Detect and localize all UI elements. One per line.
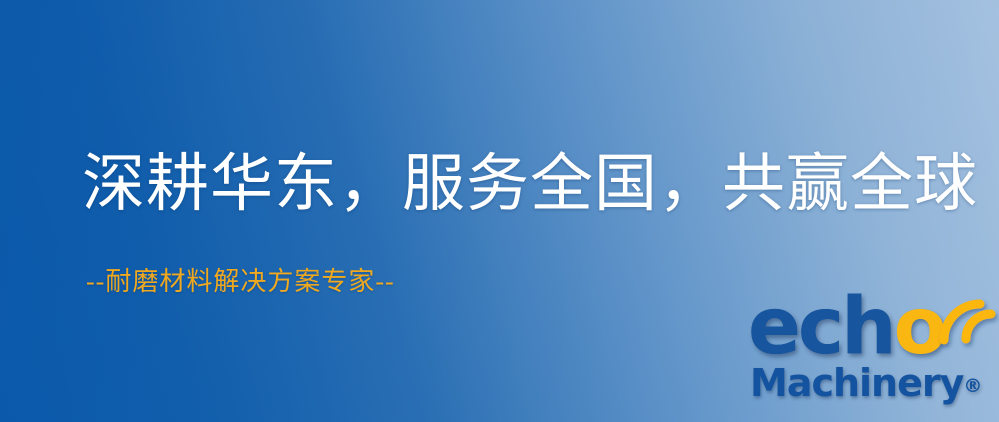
echo-machinery-logo: echo Machinery® xyxy=(748,292,999,422)
logo-wordmark: echo xyxy=(748,288,944,366)
banner-headline: 深耕华东，服务全国，共赢全球 xyxy=(82,152,978,218)
logo-sub-wordmark: Machinery® xyxy=(750,364,982,402)
promotional-banner: 深耕华东，服务全国，共赢全球 --耐磨材料解决方案专家-- echo Machi… xyxy=(0,0,999,422)
logo-wordmark-ech: ech xyxy=(748,282,894,372)
logo-sub-text: Machinery xyxy=(750,361,963,405)
signal-waves-icon xyxy=(930,290,999,352)
registered-trademark-icon: ® xyxy=(963,375,982,397)
banner-subtitle: --耐磨材料解决方案专家-- xyxy=(86,266,395,297)
